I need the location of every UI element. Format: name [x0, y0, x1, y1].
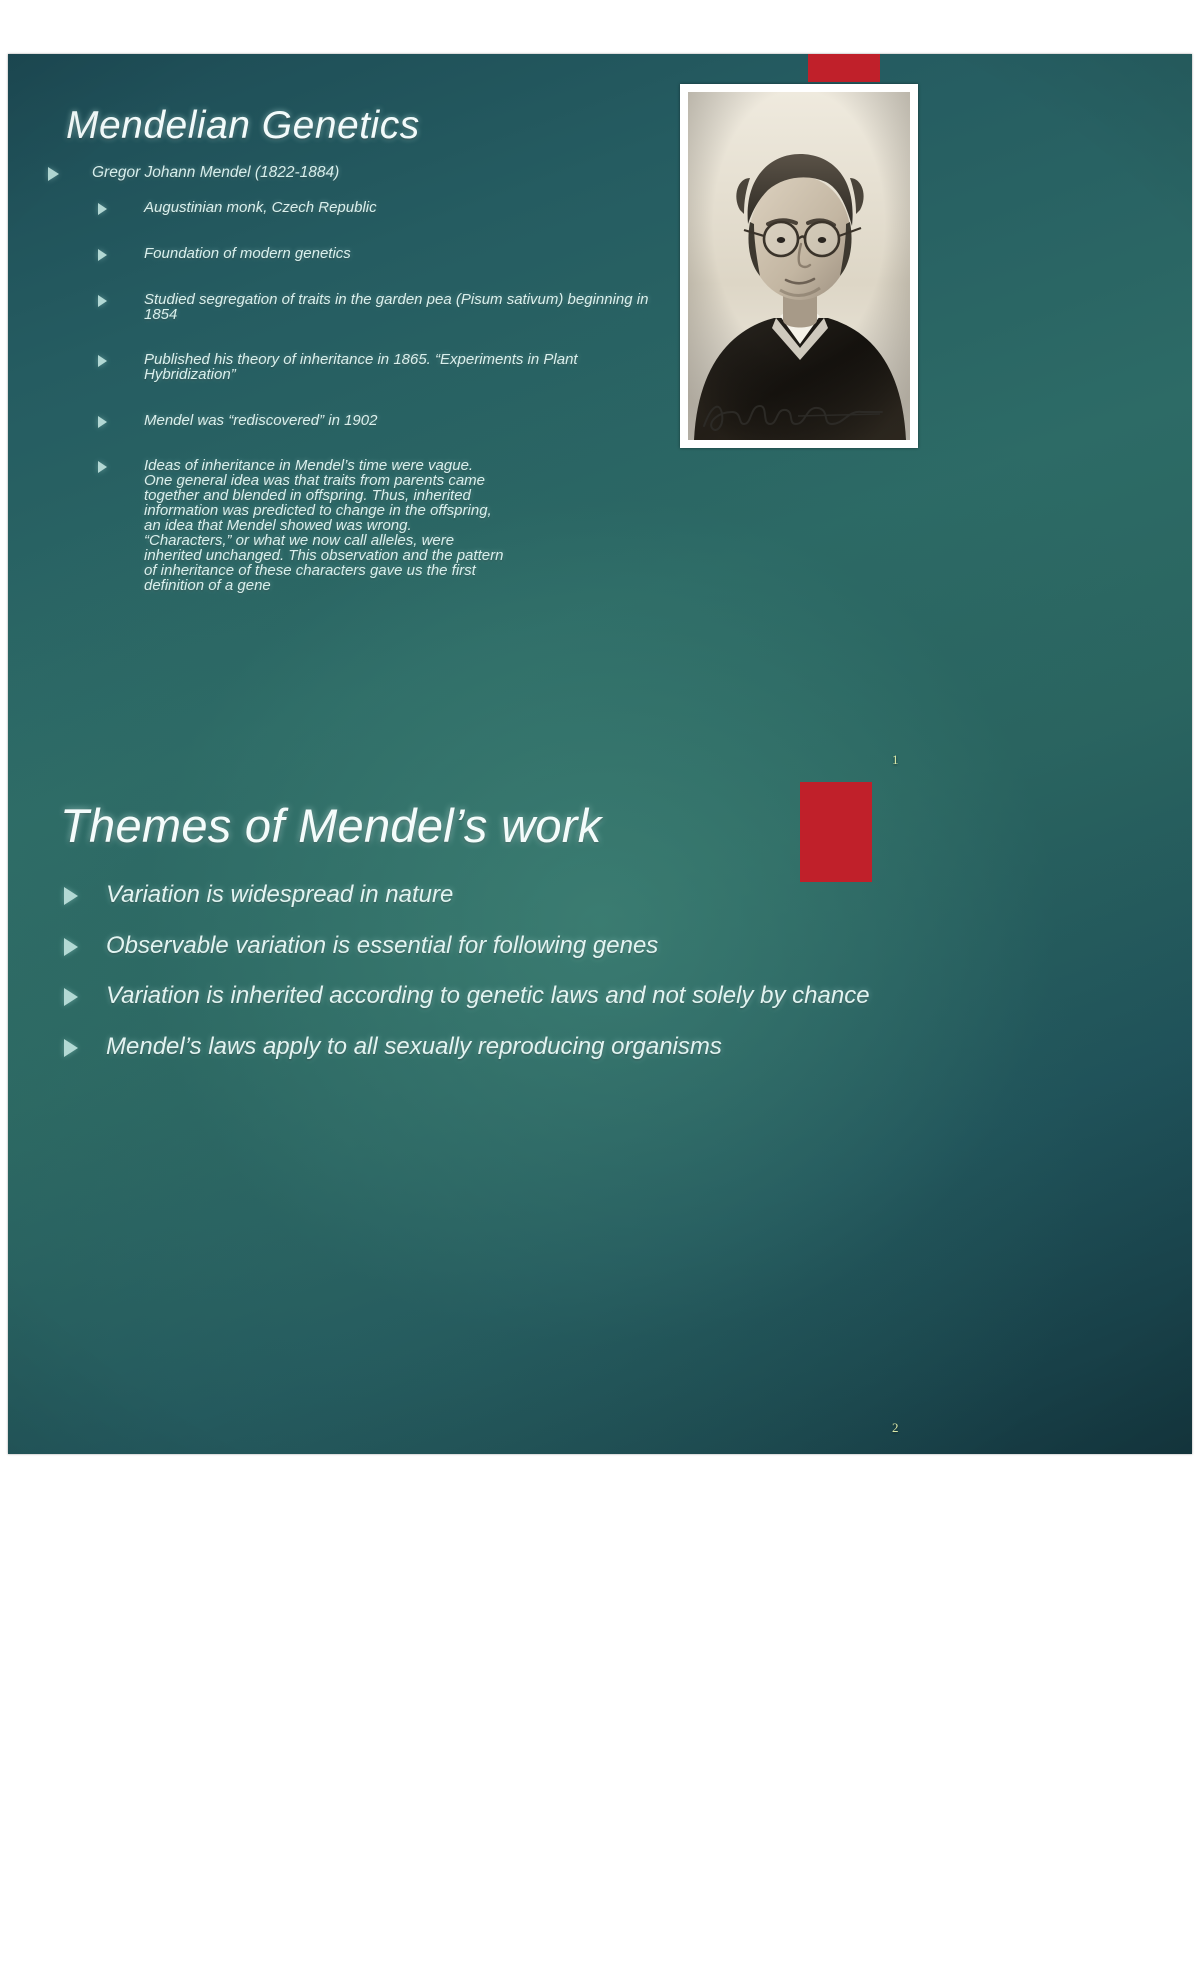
paragraph-line: definition of a gene [144, 577, 271, 594]
slide-mendelian-genetics: Mendelian Genetics Gregor Johann Mendel … [8, 54, 1192, 720]
bullet-text: Observable variation is essential for fo… [106, 932, 658, 959]
mendel-signature [698, 394, 888, 438]
bullet-triangle-icon [64, 938, 78, 956]
bullet-mendels-laws-apply: Mendel’s laws apply to all sexually repr… [64, 1032, 904, 1063]
bullet-triangle-icon [98, 461, 107, 473]
bullet-augustinian-monk: Augustinian monk, Czech Republic [98, 200, 668, 216]
bullet-triangle-icon [98, 203, 107, 215]
slide2-page-number: 2 [892, 1420, 899, 1436]
red-accent-bar-top [808, 54, 880, 82]
mendel-portrait-frame [680, 84, 918, 448]
slide2-bullet-list: Variation is widespread in nature Observ… [64, 880, 904, 1083]
bullet-level1-gregor-mendel: Gregor Johann Mendel (1822-1884) [48, 164, 668, 182]
slide-themes-of-mendels-work: Themes of Mendel’s work Variation is wid… [8, 720, 1192, 1454]
portrait-illustration [688, 92, 910, 440]
bullet-rediscovered-1902: Mendel was “rediscovered” in 1902 [98, 413, 668, 429]
bullet-text: Mendel was “rediscovered” in 1902 [144, 412, 377, 429]
slide1-bullet-list: Gregor Johann Mendel (1822-1884) Augusti… [48, 164, 668, 593]
bullet-text: Mendel’s laws apply to all sexually repr… [106, 1033, 722, 1060]
handout-page: Mendelian Genetics Gregor Johann Mendel … [0, 0, 1200, 1976]
bullet-triangle-icon [98, 295, 107, 307]
bullet-triangle-icon [98, 416, 107, 428]
bullet-published-theory: Published his theory of inheritance in 1… [98, 352, 668, 383]
bullet-text: Variation is inherited according to gene… [106, 982, 870, 1009]
bullet-triangle-icon [48, 167, 59, 181]
bullet-ideas-of-inheritance: Ideas of inheritance in Mendel’s time we… [98, 458, 668, 593]
slide2-title: Themes of Mendel’s work [60, 798, 602, 853]
scanned-sheet: Mendelian Genetics Gregor Johann Mendel … [8, 54, 1192, 1454]
slide1-page-number: 1 [892, 752, 899, 768]
bullet-text: Variation is widespread in nature [106, 881, 453, 908]
bullet-foundation-genetics: Foundation of modern genetics [98, 246, 668, 262]
bullet-variation-inherited: Variation is inherited according to gene… [64, 981, 904, 1012]
bullet-text: Published his theory of inheritance in 1… [144, 351, 578, 383]
bullet-triangle-icon [98, 249, 107, 261]
bullet-triangle-icon [64, 887, 78, 905]
bullet-text: Studied segregation of traits in the gar… [144, 291, 648, 323]
bullet-triangle-icon [64, 988, 78, 1006]
red-accent-rectangle [800, 782, 872, 882]
slide1-title: Mendelian Genetics [66, 104, 420, 148]
bullet-garden-pea: Studied segregation of traits in the gar… [98, 292, 668, 323]
slide1-sub-bullets: Augustinian monk, Czech Republic Foundat… [48, 200, 668, 593]
bullet-observable-variation: Observable variation is essential for fo… [64, 931, 904, 962]
bullet-text: Augustinian monk, Czech Republic [144, 199, 377, 216]
bullet-level1-text: Gregor Johann Mendel (1822-1884) [92, 164, 339, 181]
mendel-portrait-image [688, 92, 910, 440]
bullet-text: Foundation of modern genetics [144, 245, 351, 262]
bullet-triangle-icon [64, 1039, 78, 1057]
bullet-variation-widespread: Variation is widespread in nature [64, 880, 904, 911]
bullet-triangle-icon [98, 355, 107, 367]
